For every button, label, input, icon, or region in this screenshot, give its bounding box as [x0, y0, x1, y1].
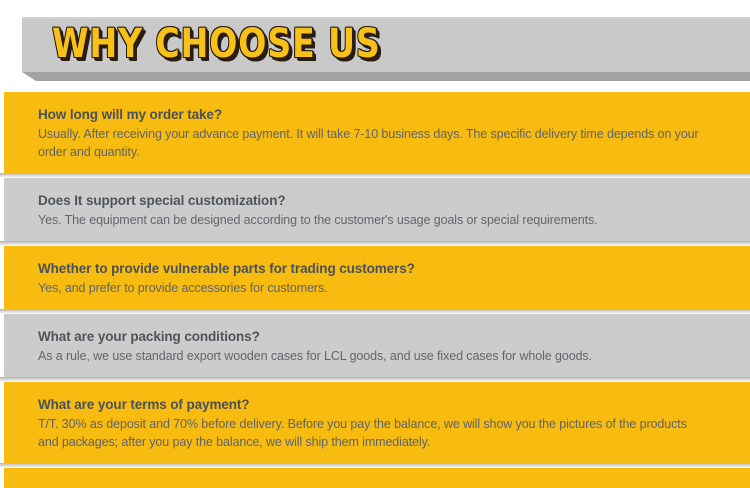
faq-question: What are your terms of payment? [38, 395, 728, 414]
faq-question: Does It support special customization? [38, 191, 728, 210]
faq-answer: As a rule, we use standard export wooden… [38, 347, 710, 365]
faq-item[interactable]: What are your terms of payment? T/T. 30%… [0, 382, 750, 463]
faq-item[interactable]: Does It support special customization? Y… [0, 178, 750, 241]
faq-question: Whether to provide vulnerable parts for … [38, 259, 728, 278]
page-header-banner: WHY CHOOSE US [0, 0, 750, 92]
banner-bevel-shadow [22, 72, 750, 81]
faq-question: How long will my order take? [38, 105, 728, 124]
faq-item[interactable]: How long will my order take? Usually. Af… [0, 92, 750, 173]
faq-answer: Yes. The equipment can be designed accor… [38, 211, 710, 229]
faq-list: How long will my order take? Usually. Af… [0, 92, 750, 488]
faq-item[interactable]: What are your packing conditions? As a r… [0, 314, 750, 377]
faq-item[interactable]: Whether to provide vulnerable parts for … [0, 246, 750, 309]
faq-answer: Yes, and prefer to provide accessories f… [38, 279, 710, 297]
page-title: WHY CHOOSE US [52, 20, 381, 68]
faq-answer: Usually. After receiving your advance pa… [38, 125, 710, 161]
faq-question: What are your packing conditions? [38, 327, 728, 346]
faq-answer: T/T. 30% as deposit and 70% before deliv… [38, 415, 710, 451]
faq-item-partial[interactable] [0, 468, 750, 488]
banner-face-highlight [22, 17, 750, 19]
